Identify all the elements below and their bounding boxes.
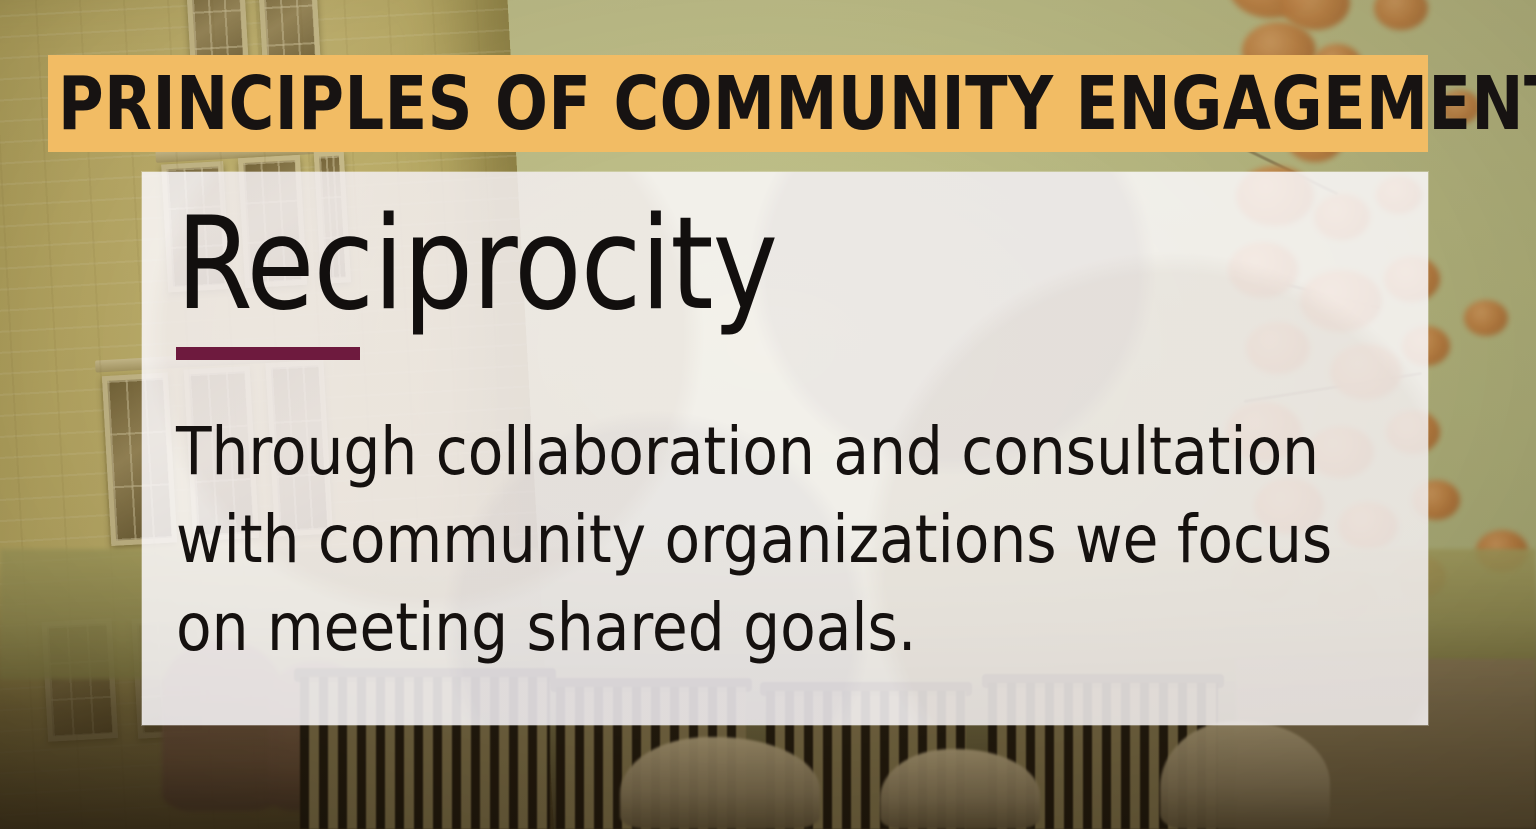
body-text: Through collaboration and consultation w…: [176, 408, 1403, 673]
body-line: with community organizations we focus: [176, 496, 1403, 584]
body-line: on meeting shared goals.: [176, 584, 1403, 672]
principles-banner: PRINCIPLES OF COMMUNITY ENGAGEMENT: [48, 55, 1428, 152]
body-line: Through collaboration and consultation: [176, 408, 1403, 496]
page-title: Reciprocity: [176, 200, 1378, 331]
slide: PRINCIPLES OF COMMUNITY ENGAGEMENT Recip…: [0, 0, 1536, 829]
content-card: Reciprocity Through collaboration and co…: [142, 172, 1428, 725]
banner-label: PRINCIPLES OF COMMUNITY ENGAGEMENT: [58, 67, 1330, 141]
title-underline-rule: [176, 347, 360, 360]
